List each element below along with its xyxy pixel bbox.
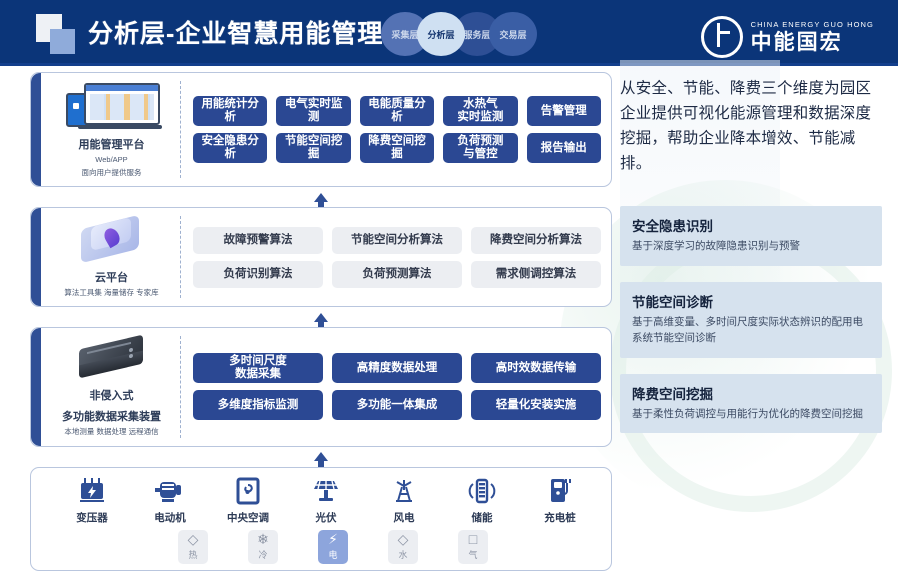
panel-accent-bar <box>31 208 41 306</box>
panel2-title: 云平台 <box>95 269 128 285</box>
chip-jieneng-wajue[interactable]: 节能空间挖掘 <box>276 133 350 163</box>
energy-label: 电 <box>328 548 337 561</box>
chip-xuqiuce-tiaokong-suanfa[interactable]: 需求侧调控算法 <box>471 261 601 288</box>
panel-devices: 变压器 电动机 <box>30 467 612 571</box>
panel3-title-2: 多功能数据采集装置 <box>62 408 161 424</box>
energy-label: 热 <box>188 548 197 561</box>
panel-energy-management-platform: 用能管理平台 Web/APP 面向用户提供服务 用能统计分析 电气实时监测 电能… <box>30 72 612 187</box>
chip-dianneng-zhiliang[interactable]: 电能质量分析 <box>360 96 434 126</box>
card-cost-reduction-mining[interactable]: 降费空间挖掘 基于柔性负荷调控与用能行为优化的降费空间挖掘 <box>620 374 882 434</box>
device-hvac[interactable]: 中央空调 <box>211 476 285 525</box>
chip-fuhe-yuce-guankong[interactable]: 负荷预测与管控 <box>443 133 517 163</box>
gas-icon: □ <box>469 532 477 546</box>
panel3-sub1: 本地测量 数据处理 远程通信 <box>64 427 158 437</box>
arrow-up-1 <box>30 187 612 207</box>
energy-cold[interactable]: ❄ 冷 <box>248 530 278 564</box>
chip-gaoshixiao-chuanshu[interactable]: 高时效数据传输 <box>471 353 601 383</box>
panel1-sub2: 面向用户提供服务 <box>82 168 142 178</box>
device-storage[interactable]: 储能 <box>445 476 519 525</box>
chip-duoweidu-jiance[interactable]: 多维度指标监测 <box>193 390 323 420</box>
device-motor[interactable]: 电动机 <box>133 476 207 525</box>
card-safety-identification[interactable]: 安全隐患识别 基于深度学习的故障隐患识别与预警 <box>620 206 882 266</box>
panel-accent-bar <box>31 328 41 445</box>
ev-charger-icon <box>543 476 577 506</box>
intro-paragraph: 从安全、节能、降费三个维度为园区企业提供可视化能源管理和数据深度挖掘，帮助企业降… <box>620 76 882 176</box>
chip-qingliang-anzhuang[interactable]: 轻量化安装实施 <box>471 390 601 420</box>
card-description: 基于高维变量、多时间尺度实际状态辨识的配用电系统节能空间诊断 <box>632 315 870 347</box>
card-energy-saving-diagnosis[interactable]: 节能空间诊断 基于高维变量、多时间尺度实际状态辨识的配用电系统节能空间诊断 <box>620 282 882 358</box>
device-label: 光伏 <box>316 510 337 525</box>
chip-shuireqi-jiance[interactable]: 水热气实时监测 <box>443 96 517 126</box>
chip-jieneng-fenxi-suanfa[interactable]: 节能空间分析算法 <box>332 227 462 254</box>
chip-gaojing-guanli[interactable]: 告警管理 <box>527 96 601 126</box>
electricity-icon: ⚡ <box>328 532 338 546</box>
brand-emblem-icon <box>701 16 743 58</box>
energy-type-row: ◇ 热 ❄ 冷 ⚡ 电 ◇ 水 □ 气 <box>53 530 599 564</box>
logo-square-blue <box>50 29 75 54</box>
water-icon: ◇ <box>398 532 409 546</box>
laptop-phone-icon <box>66 81 158 131</box>
brand-logo: CHINA ENERGY GUO HONG 中能国宏 <box>701 16 874 58</box>
logo-mark <box>36 14 76 54</box>
device-solar[interactable]: 光伏 <box>289 476 363 525</box>
chip-fuhe-shibie-suanfa[interactable]: 负荷识别算法 <box>193 261 323 288</box>
chip-dianqi-shishi[interactable]: 电气实时监测 <box>276 96 350 126</box>
device-ev-charger[interactable]: 充电桩 <box>523 476 597 525</box>
arrow-up-3 <box>30 447 612 467</box>
brand-name-cn: 中能国宏 <box>751 32 874 53</box>
device-row: 变压器 电动机 <box>53 476 599 525</box>
panel-cloud-platform: 云平台 算法工具集 海量储存 专家库 故障预警算法 节能空间分析算法 降费空间分… <box>30 207 612 307</box>
cloud-platform-icon <box>75 216 149 264</box>
brand-name-en: CHINA ENERGY GUO HONG <box>751 21 874 29</box>
chip-duoshijian-caiji[interactable]: 多时间尺度数据采集 <box>193 353 323 383</box>
chip-jiangfei-wajue[interactable]: 降费空间挖掘 <box>360 133 434 163</box>
panel3-chip-grid: 多时间尺度数据采集 高精度数据处理 高时效数据传输 多维度指标监测 多功能一体集… <box>181 353 601 420</box>
panel1-title: 用能管理平台 <box>79 136 145 152</box>
card-title: 安全隐患识别 <box>632 215 870 235</box>
panel3-side: 非侵入式 多功能数据采集装置 本地测量 数据处理 远程通信 <box>51 336 181 437</box>
chip-fuhe-yuce-suanfa[interactable]: 负荷预测算法 <box>332 261 462 288</box>
solar-panel-icon <box>309 476 343 506</box>
panel1-side: 用能管理平台 Web/APP 面向用户提供服务 <box>51 81 181 178</box>
chip-yongneng-tongji[interactable]: 用能统计分析 <box>193 96 267 126</box>
energy-heat[interactable]: ◇ 热 <box>178 530 208 564</box>
device-label: 中央空调 <box>227 510 269 525</box>
heat-icon: ◇ <box>188 532 199 546</box>
energy-label: 冷 <box>258 548 267 561</box>
card-title: 节能空间诊断 <box>632 291 870 311</box>
device-label: 充电桩 <box>544 510 576 525</box>
card-description: 基于柔性负荷调控与用能行为优化的降费空间挖掘 <box>632 407 870 423</box>
device-wind[interactable]: 风电 <box>367 476 441 525</box>
transformer-icon <box>75 476 109 506</box>
page-header: 分析层-企业智慧用能管理平台 采集层 服务层 交易层 分析层 CHINA ENE… <box>0 0 898 66</box>
acquisition-device-icon <box>69 336 155 382</box>
chip-guzhang-yujing-suanfa[interactable]: 故障预警算法 <box>193 227 323 254</box>
panel1-chip-grid: 用能统计分析 电气实时监测 电能质量分析 水热气实时监测 告警管理 安全隐患分析… <box>181 96 601 163</box>
device-label: 变压器 <box>76 510 108 525</box>
card-title: 降费空间挖掘 <box>632 383 870 403</box>
panel1-sub1: Web/APP <box>95 155 127 165</box>
stage-ellipse-analysis-active[interactable]: 分析层 <box>417 12 465 56</box>
brand-text: CHINA ENERGY GUO HONG 中能国宏 <box>751 21 874 53</box>
device-label: 电动机 <box>154 510 186 525</box>
panel2-side: 云平台 算法工具集 海量储存 专家库 <box>51 216 181 298</box>
chip-baogao-shuchu[interactable]: 报告输出 <box>527 133 601 163</box>
chip-gaojingdu-chuli[interactable]: 高精度数据处理 <box>332 353 462 383</box>
wind-turbine-icon <box>387 476 421 506</box>
chip-jiangfei-fenxi-suanfa[interactable]: 降费空间分析算法 <box>471 227 601 254</box>
energy-water[interactable]: ◇ 水 <box>388 530 418 564</box>
right-column: 从安全、节能、降费三个维度为园区企业提供可视化能源管理和数据深度挖掘，帮助企业降… <box>620 76 882 433</box>
cold-icon: ❄ <box>257 532 269 546</box>
energy-label: 水 <box>398 548 407 561</box>
energy-electricity-active[interactable]: ⚡ 电 <box>318 530 348 564</box>
chip-anquan-yinhuan[interactable]: 安全隐患分析 <box>193 133 267 163</box>
energy-label: 气 <box>468 548 477 561</box>
panel3-title: 非侵入式 <box>90 387 134 403</box>
panel2-chip-grid: 故障预警算法 节能空间分析算法 降费空间分析算法 负荷识别算法 负荷预测算法 需… <box>181 227 601 288</box>
chip-duogongneng-jicheng[interactable]: 多功能一体集成 <box>332 390 462 420</box>
hvac-icon <box>231 476 265 506</box>
panel-accent-bar <box>31 73 41 186</box>
panel2-sub1: 算法工具集 海量储存 专家库 <box>64 288 158 298</box>
motor-icon <box>153 476 187 506</box>
energy-gas[interactable]: □ 气 <box>458 530 488 564</box>
architecture-stack: 用能管理平台 Web/APP 面向用户提供服务 用能统计分析 电气实时监测 电能… <box>30 72 612 571</box>
device-label: 风电 <box>394 510 415 525</box>
device-transformer[interactable]: 变压器 <box>55 476 129 525</box>
panel-data-acquisition-device: 非侵入式 多功能数据采集装置 本地测量 数据处理 远程通信 多时间尺度数据采集 … <box>30 327 612 446</box>
battery-storage-icon <box>465 476 499 506</box>
stage-ellipse-trade[interactable]: 交易层 <box>489 12 537 56</box>
device-label: 储能 <box>472 510 493 525</box>
card-description: 基于深度学习的故障隐患识别与预警 <box>632 239 870 255</box>
arrow-up-2 <box>30 307 612 327</box>
